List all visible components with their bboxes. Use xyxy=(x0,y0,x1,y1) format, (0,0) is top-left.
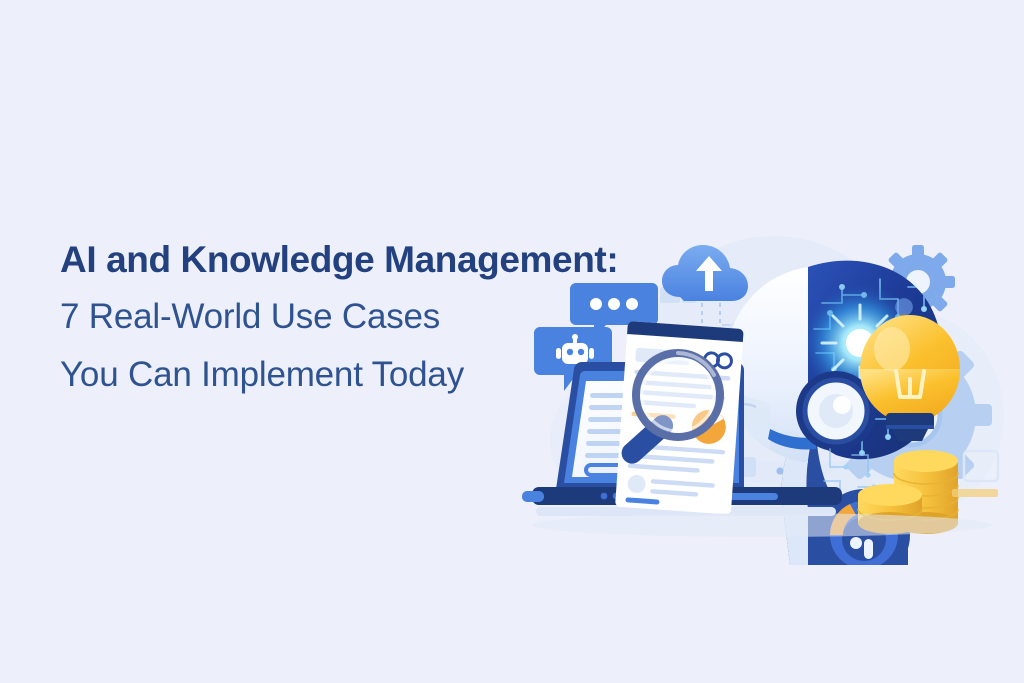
typing-dots-icon xyxy=(590,298,638,310)
subtitle-line-2: You Can Implement Today xyxy=(60,346,580,404)
subtitle-line-1: 7 Real-World Use Cases xyxy=(60,288,580,346)
ai-knowledge-management-illustration xyxy=(512,225,1024,565)
headline-block: AI and Knowledge Management: 7 Real-Worl… xyxy=(60,232,580,404)
banner-root: AI and Knowledge Management: 7 Real-Worl… xyxy=(0,0,1024,683)
page-title: AI and Knowledge Management: xyxy=(60,232,580,288)
